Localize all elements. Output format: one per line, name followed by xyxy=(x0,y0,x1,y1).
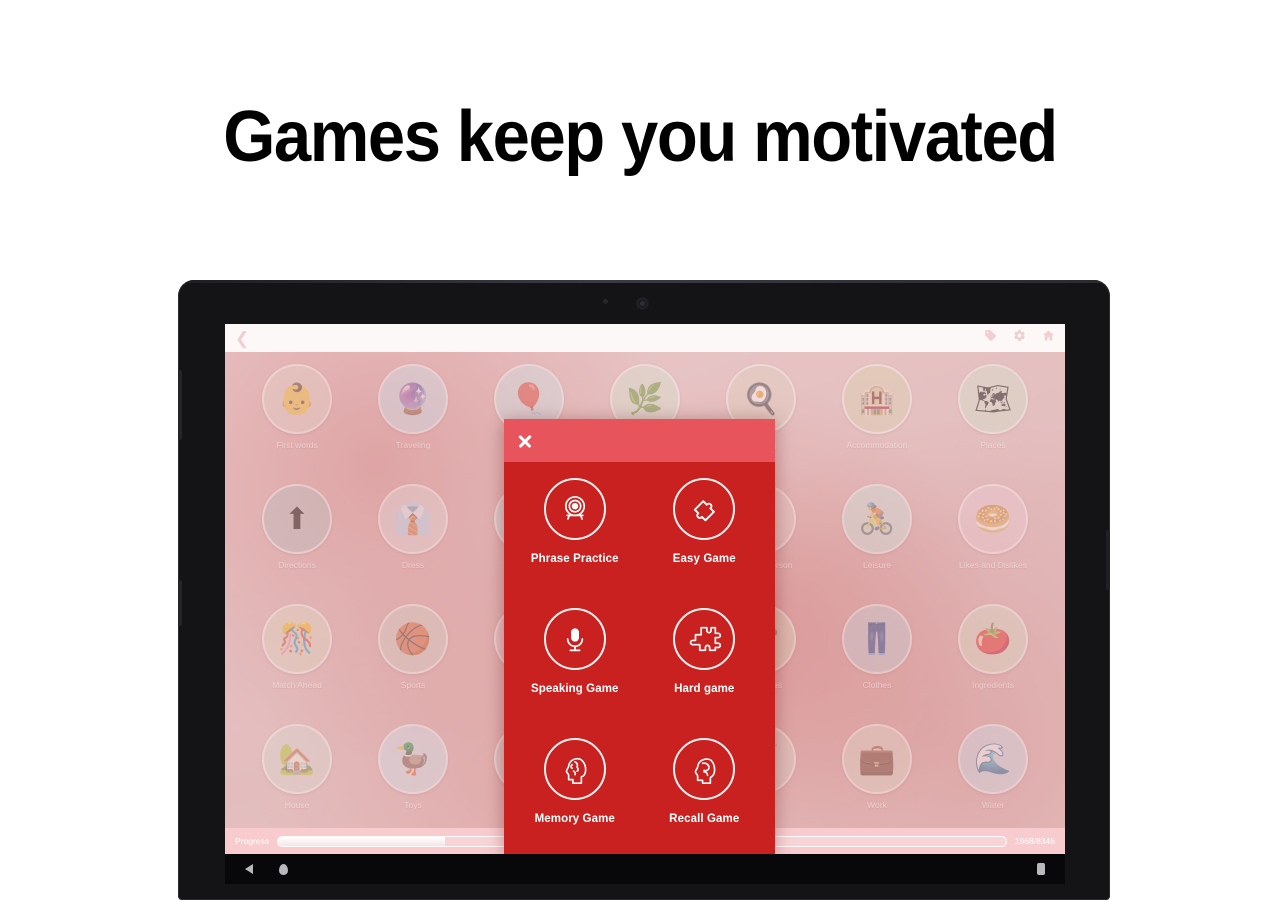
power-button[interactable] xyxy=(178,580,182,626)
game-option-speaking-game[interactable]: Speaking Game xyxy=(510,608,640,738)
head-brain-icon xyxy=(544,738,606,800)
game-option-memory-game[interactable]: Memory Game xyxy=(510,738,640,854)
tablet-screen: 👶First words🔮Traveling🎈Transport🌿Nature🍳… xyxy=(225,324,1065,854)
category-tile[interactable]: 👔Dress xyxy=(355,484,471,604)
chevron-left-icon[interactable]: ❮ xyxy=(235,330,249,347)
category-label: Work xyxy=(867,801,887,811)
category-label: Places xyxy=(980,441,1006,451)
game-option-label: Speaking Game xyxy=(531,683,619,695)
home-icon[interactable] xyxy=(1042,329,1055,347)
category-thumbnail: 🌊 xyxy=(958,724,1028,794)
category-thumbnail: 🚴 xyxy=(842,484,912,554)
category-label: Clothes xyxy=(863,681,892,691)
category-label: Sports xyxy=(401,681,426,691)
category-tile[interactable]: 🚴Leisure xyxy=(819,484,935,604)
category-label: Accommodation xyxy=(847,441,908,451)
home-circle-icon[interactable] xyxy=(279,864,288,875)
android-navigation-bar xyxy=(225,854,1065,884)
category-thumbnail: 🏡 xyxy=(262,724,332,794)
head-brain-outline-icon xyxy=(673,738,735,800)
category-label: Leisure xyxy=(863,561,891,571)
recents-square-icon[interactable] xyxy=(1037,863,1045,875)
category-label: Ingredients xyxy=(972,681,1014,691)
category-tile[interactable]: 🏨Accommodation xyxy=(819,364,935,484)
category-label: Likes and Dislikes xyxy=(959,561,1027,571)
category-tile[interactable]: 👶First words xyxy=(239,364,355,484)
category-thumbnail: 🏀 xyxy=(378,604,448,674)
tag-icon[interactable] xyxy=(984,329,997,347)
page-headline: Games keep you motivated xyxy=(45,96,1235,178)
volume-button[interactable] xyxy=(178,370,182,440)
app-toolbar: ❮ xyxy=(225,324,1065,352)
category-label: Match Ahead xyxy=(272,681,322,691)
game-option-phrase-practice[interactable]: Phrase Practice xyxy=(510,478,640,608)
game-option-label: Hard game xyxy=(674,683,734,695)
category-tile[interactable]: ⬆Directions xyxy=(239,484,355,604)
category-tile[interactable]: 🏡House xyxy=(239,724,355,844)
bezel-highlight xyxy=(178,280,1110,283)
category-thumbnail: 🍅 xyxy=(958,604,1028,674)
category-tile[interactable]: 🔮Traveling xyxy=(355,364,471,484)
single-puzzle-piece-icon xyxy=(673,478,735,540)
gear-icon[interactable] xyxy=(1013,329,1026,347)
ambient-sensor-icon xyxy=(603,299,608,304)
category-thumbnail: 🗺 xyxy=(958,364,1028,434)
category-thumbnail: 💼 xyxy=(842,724,912,794)
tablet-device-frame: 👶First words🔮Traveling🎈Transport🌿Nature🍳… xyxy=(178,280,1110,900)
category-tile[interactable]: 🎊Match Ahead xyxy=(239,604,355,724)
category-tile[interactable]: 🦆Toys xyxy=(355,724,471,844)
games-grid: Phrase PracticeEasy GameSpeaking GameHar… xyxy=(504,462,775,854)
category-tile[interactable]: 🏀Sports xyxy=(355,604,471,724)
category-label: House xyxy=(285,801,310,811)
category-thumbnail: 🎊 xyxy=(262,604,332,674)
category-thumbnail: 🥯 xyxy=(958,484,1028,554)
category-label: First words xyxy=(276,441,318,451)
progress-label: Progress xyxy=(235,836,269,846)
front-camera-icon xyxy=(638,299,647,308)
games-modal: Phrase PracticeEasy GameSpeaking GameHar… xyxy=(504,419,775,854)
category-label: Traveling xyxy=(396,441,431,451)
category-label: Water xyxy=(982,801,1004,811)
close-x-icon[interactable] xyxy=(515,431,535,451)
toolbar-icon-group xyxy=(984,329,1055,347)
game-option-easy-game[interactable]: Easy Game xyxy=(640,478,770,608)
category-tile[interactable]: 🌊Water xyxy=(935,724,1051,844)
category-thumbnail: 👶 xyxy=(262,364,332,434)
category-thumbnail: 🔮 xyxy=(378,364,448,434)
category-label: Directions xyxy=(278,561,316,571)
category-thumbnail: 🦆 xyxy=(378,724,448,794)
category-thumbnail: 👖 xyxy=(842,604,912,674)
category-thumbnail: 👔 xyxy=(378,484,448,554)
game-option-label: Phrase Practice xyxy=(531,553,619,565)
progress-count: 1968/8346 xyxy=(1015,836,1055,846)
target-dartboard-icon xyxy=(544,478,606,540)
category-thumbnail: ⬆ xyxy=(262,484,332,554)
microphone-icon xyxy=(544,608,606,670)
category-tile[interactable]: 💼Work xyxy=(819,724,935,844)
triangle-back-icon[interactable] xyxy=(245,864,253,874)
modal-header xyxy=(504,419,775,462)
game-option-label: Easy Game xyxy=(673,553,736,565)
game-option-label: Recall Game xyxy=(669,813,739,825)
category-tile[interactable]: 👖Clothes xyxy=(819,604,935,724)
game-option-recall-game[interactable]: Recall Game xyxy=(640,738,770,854)
category-tile[interactable]: 🗺Places xyxy=(935,364,1051,484)
category-label: Toys xyxy=(404,801,421,811)
game-option-label: Memory Game xyxy=(535,813,615,825)
category-thumbnail: 🏨 xyxy=(842,364,912,434)
progress-fill xyxy=(278,837,445,846)
category-tile[interactable]: 🥯Likes and Dislikes xyxy=(935,484,1051,604)
category-label: Dress xyxy=(402,561,424,571)
category-tile[interactable]: 🍅Ingredients xyxy=(935,604,1051,724)
game-option-hard-game[interactable]: Hard game xyxy=(640,608,770,738)
right-side-button[interactable] xyxy=(1106,530,1110,590)
puzzle-cluster-icon xyxy=(673,608,735,670)
